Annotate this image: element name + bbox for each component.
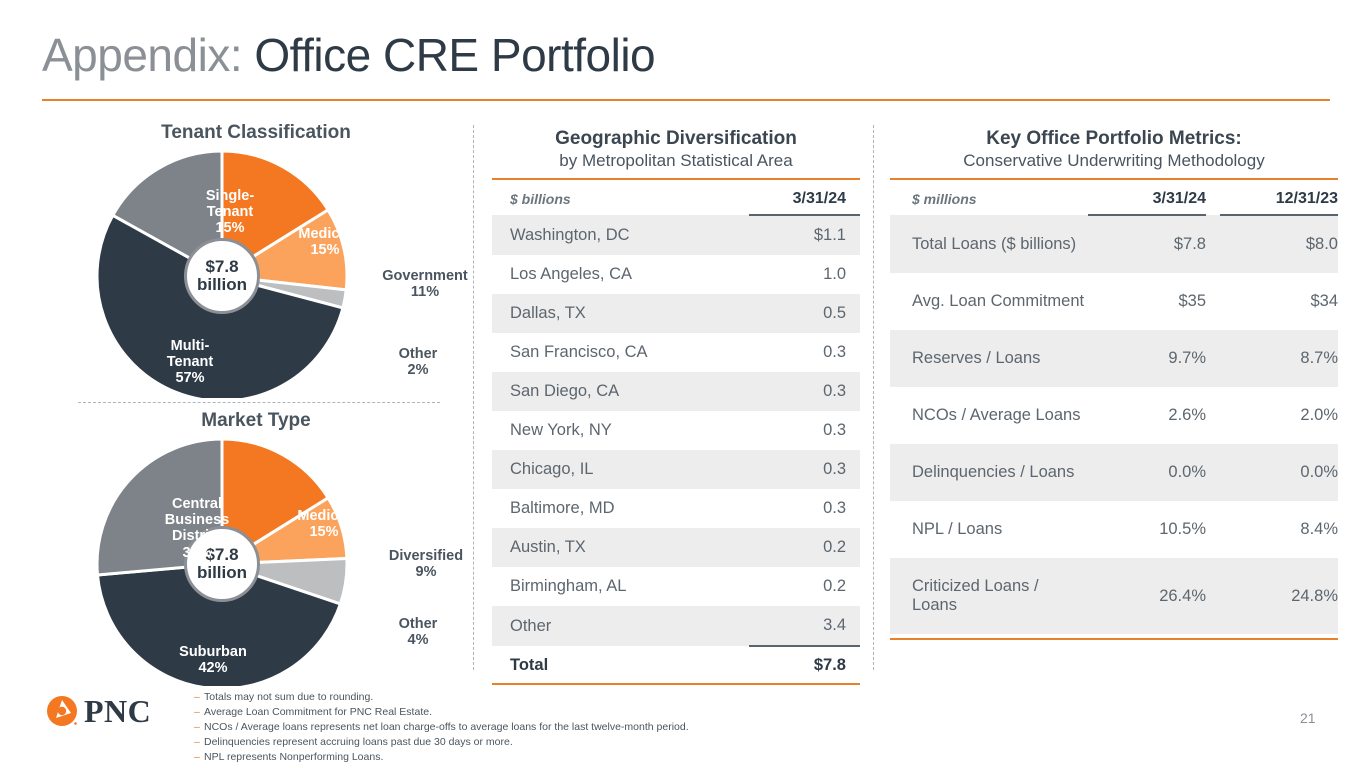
- table-row: Washington, DC $1.1: [492, 215, 860, 255]
- vertical-divider-right: [873, 125, 874, 670]
- tenant-label-single: Single- Tenant 15%: [180, 188, 280, 237]
- metrics-table-bottom-rule: [890, 638, 1338, 640]
- footnote-dash: –: [194, 750, 204, 765]
- market-label-other: Other 4%: [378, 616, 458, 648]
- title-underline-rule: [42, 99, 1330, 101]
- table-row: Dallas, TX 0.5: [492, 294, 860, 333]
- footnote-item: –Delinquencies represent accruing loans …: [194, 735, 689, 750]
- tenant-label-other: Other 2%: [378, 346, 458, 378]
- table-row: Chicago, IL 0.3: [492, 450, 860, 489]
- table-row: Los Angeles, CA 1.0: [492, 255, 860, 294]
- row-gap: [1206, 558, 1220, 634]
- geo-row-value: 0.2: [749, 528, 860, 567]
- page-title: Appendix: Office CRE Portfolio: [42, 28, 1322, 82]
- metric-value-current: 2.6%: [1088, 387, 1206, 444]
- market-label-medical: Medical 15%: [278, 508, 370, 540]
- market-center-unit: billion: [197, 564, 247, 582]
- geo-table-header-row: $ billions 3/31/24: [492, 180, 860, 215]
- metric-value-prior: $34: [1220, 273, 1338, 330]
- geo-row-value: 0.3: [749, 450, 860, 489]
- table-row: Baltimore, MD 0.3: [492, 489, 860, 528]
- geo-row-name: San Francisco, CA: [492, 333, 749, 372]
- row-gap: [1206, 215, 1220, 273]
- row-gap: [1206, 501, 1220, 558]
- table-row: NCOs / Average Loans 2.6% 2.0%: [890, 387, 1338, 444]
- metric-value-current: $7.8: [1088, 215, 1206, 273]
- title-block: Appendix: Office CRE Portfolio: [42, 28, 1322, 82]
- geo-row-name: Chicago, IL: [492, 450, 749, 489]
- tenant-center-unit: billion: [197, 276, 247, 294]
- geo-row-name: Dallas, TX: [492, 294, 749, 333]
- market-label-suburban: Suburban 42%: [158, 644, 268, 676]
- tenant-center-value: $7.8: [205, 258, 238, 276]
- geo-row-name: Washington, DC: [492, 215, 749, 255]
- table-row: San Francisco, CA 0.3: [492, 333, 860, 372]
- table-row: San Diego, CA 0.3: [492, 372, 860, 411]
- metric-value-prior: 8.7%: [1220, 330, 1338, 387]
- geographic-diversification-table: Geographic Diversification by Metropolit…: [492, 128, 860, 685]
- table-row: Reserves / Loans 9.7% 8.7%: [890, 330, 1338, 387]
- geo-row-name: Birmingham, AL: [492, 567, 749, 606]
- tenant-label-government: Government 11%: [370, 268, 480, 300]
- metric-name: Reserves / Loans: [890, 330, 1088, 387]
- metrics-col-gap: [1206, 180, 1220, 215]
- row-gap: [1206, 444, 1220, 501]
- geo-row-value: 0.3: [749, 333, 860, 372]
- geo-row-name: San Diego, CA: [492, 372, 749, 411]
- market-label-cbd: Central Business District 30%: [148, 496, 246, 561]
- table-row: Avg. Loan Commitment $35 $34: [890, 273, 1338, 330]
- metrics-table: $ millions 3/31/24 12/31/23 Total Loans …: [890, 180, 1338, 634]
- footnote-text: Delinquencies represent accruing loans p…: [204, 736, 513, 748]
- geo-unit-label: $ billions: [492, 180, 749, 215]
- metric-name: Delinquencies / Loans: [890, 444, 1088, 501]
- metric-value-current: 10.5%: [1088, 501, 1206, 558]
- row-gap: [1206, 330, 1220, 387]
- metric-name: NPL / Loans: [890, 501, 1088, 558]
- footnote-dash: –: [194, 720, 204, 735]
- geo-row-value: 1.0: [749, 255, 860, 294]
- pnc-wordmark: PNC: [84, 693, 151, 730]
- footnote-dash: –: [194, 690, 204, 705]
- metric-name: Total Loans ($ billions): [890, 215, 1088, 273]
- geo-row-name: Baltimore, MD: [492, 489, 749, 528]
- geo-table-title: Geographic Diversification: [492, 128, 860, 150]
- table-row: NPL / Loans 10.5% 8.4%: [890, 501, 1338, 558]
- vertical-divider-left: [473, 125, 474, 670]
- geo-total-value: $7.8: [749, 646, 860, 679]
- metric-value-current: 0.0%: [1088, 444, 1206, 501]
- metric-value-current: 9.7%: [1088, 330, 1206, 387]
- footnote-text: Average Loan Commitment for PNC Real Est…: [204, 706, 432, 718]
- metric-value-prior: 24.8%: [1220, 558, 1338, 634]
- metric-value-prior: 8.4%: [1220, 501, 1338, 558]
- market-donut-wrap: $7.8 billion Medical 15% Diversified 9% …: [40, 436, 472, 686]
- metrics-table-header-row: $ millions 3/31/24 12/31/23: [890, 180, 1338, 215]
- metric-value-prior: 0.0%: [1220, 444, 1338, 501]
- metrics-unit-label: $ millions: [890, 180, 1088, 215]
- metric-value-current: $35: [1088, 273, 1206, 330]
- key-office-portfolio-metrics-table: Key Office Portfolio Metrics: Conservati…: [890, 128, 1338, 640]
- metrics-table-title: Key Office Portfolio Metrics:: [890, 128, 1338, 150]
- geo-row-value: 0.3: [749, 489, 860, 528]
- metric-value-prior: $8.0: [1220, 215, 1338, 273]
- footnote-item: –Totals may not sum due to rounding.: [194, 690, 689, 705]
- geo-row-value: $1.1: [749, 215, 860, 255]
- tenant-label-multi: Multi- Tenant 57%: [140, 338, 240, 387]
- geo-row-name: Other: [492, 606, 749, 646]
- geo-total-label: Total: [492, 646, 749, 679]
- tenant-label-medical: Medical 15%: [280, 226, 370, 258]
- geo-row-name: New York, NY: [492, 411, 749, 450]
- market-chart-title: Market Type: [40, 410, 472, 432]
- row-gap: [1206, 273, 1220, 330]
- geo-row-value: 0.3: [749, 411, 860, 450]
- table-row: Delinquencies / Loans 0.0% 0.0%: [890, 444, 1338, 501]
- metric-name: NCOs / Average Loans: [890, 387, 1088, 444]
- title-main: Office CRE Portfolio: [254, 29, 655, 81]
- metric-name: Avg. Loan Commitment: [890, 273, 1088, 330]
- geo-row-value: 0.3: [749, 372, 860, 411]
- table-row: Other 3.4: [492, 606, 860, 646]
- horizontal-divider-charts: [78, 402, 440, 403]
- tenant-center-label: $7.8 billion: [184, 238, 260, 314]
- title-prefix: Appendix:: [42, 29, 242, 81]
- footnote-text: NPL represents Nonperforming Loans.: [204, 751, 383, 763]
- geo-row-name: Austin, TX: [492, 528, 749, 567]
- footnote-item: –NPL represents Nonperforming Loans.: [194, 750, 689, 765]
- table-row: Austin, TX 0.2: [492, 528, 860, 567]
- footnote-item: –NCOs / Average loans represents net loa…: [194, 720, 689, 735]
- geo-table-subtitle: by Metropolitan Statistical Area: [492, 151, 860, 171]
- geo-row-name: Los Angeles, CA: [492, 255, 749, 294]
- table-row: Criticized Loans / Loans 26.4% 24.8%: [890, 558, 1338, 634]
- footnote-list: –Totals may not sum due to rounding. –Av…: [194, 690, 689, 765]
- geo-col-header: 3/31/24: [749, 180, 860, 215]
- metrics-col-header-1: 3/31/24: [1088, 180, 1206, 215]
- footnote-text: Totals may not sum due to rounding.: [204, 691, 373, 703]
- metric-value-current: 26.4%: [1088, 558, 1206, 634]
- row-gap: [1206, 387, 1220, 444]
- footnote-dash: –: [194, 705, 204, 720]
- geo-table-bottom-rule: [492, 683, 860, 685]
- metric-value-prior: 2.0%: [1220, 387, 1338, 444]
- footnote-item: –Average Loan Commitment for PNC Real Es…: [194, 705, 689, 720]
- geo-row-value: 0.2: [749, 567, 860, 606]
- market-label-diversified: Diversified 9%: [376, 548, 476, 580]
- metric-name: Criticized Loans / Loans: [890, 558, 1088, 634]
- table-row: New York, NY 0.3: [492, 411, 860, 450]
- geo-table: $ billions 3/31/24 Washington, DC $1.1 L…: [492, 180, 860, 679]
- market-type-chart: Market Type $7.8 billion Medical 15% Div…: [40, 410, 472, 686]
- table-row: Total Loans ($ billions) $7.8 $8.0: [890, 215, 1338, 273]
- tenant-classification-chart: Tenant Classification $7.8 billion Medic…: [40, 122, 472, 398]
- footnote-text: NCOs / Average loans represents net loan…: [204, 721, 689, 733]
- geo-row-value: 0.5: [749, 294, 860, 333]
- footnote-dash: –: [194, 735, 204, 750]
- geo-total-row: Total $7.8: [492, 646, 860, 679]
- geo-row-value: 3.4: [749, 606, 860, 646]
- metrics-col-header-2: 12/31/23: [1220, 180, 1338, 215]
- metrics-table-subtitle: Conservative Underwriting Methodology: [890, 151, 1338, 171]
- tenant-chart-title: Tenant Classification: [40, 122, 472, 144]
- table-row: Birmingham, AL 0.2: [492, 567, 860, 606]
- tenant-donut-wrap: $7.8 billion Medical 15% Government 11% …: [40, 148, 472, 398]
- page-number: 21: [1300, 710, 1316, 726]
